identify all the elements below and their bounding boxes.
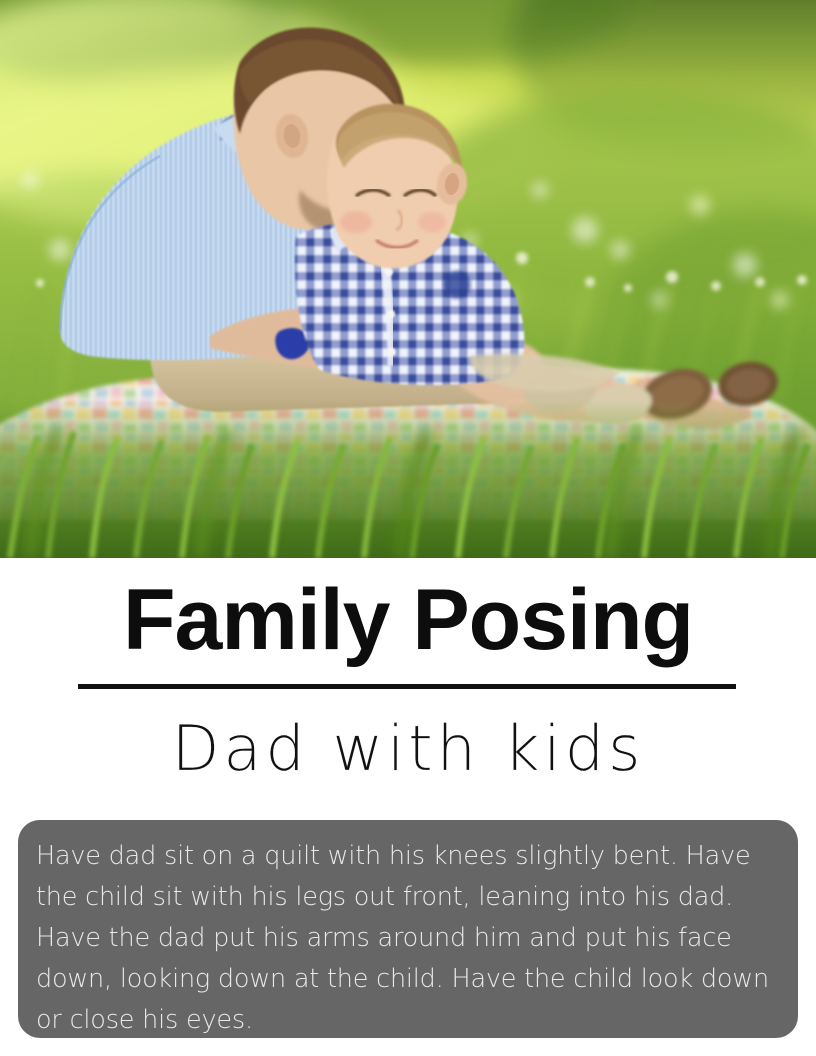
hero-photo (0, 0, 816, 558)
page-title: Family Posing (0, 572, 816, 668)
hero-photo-illustration (0, 0, 816, 558)
description-text: Have dad sit on a quilt with his knees s… (36, 836, 776, 1041)
title-divider (78, 684, 736, 689)
description-card: Have dad sit on a quilt with his knees s… (18, 820, 798, 1038)
page-subtitle: Dad with kids (0, 712, 816, 786)
